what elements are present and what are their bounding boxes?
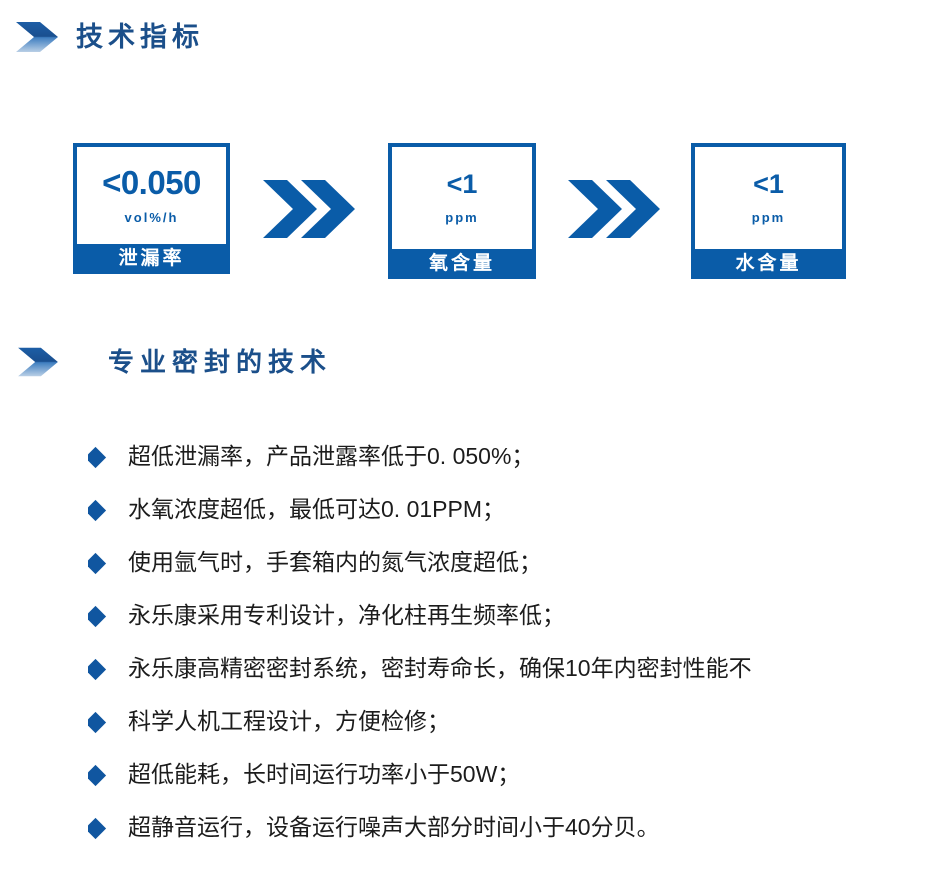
list-item: 科学人机工程设计，方便检修； (88, 703, 950, 756)
section-header-tech-specs: 技术指标 (14, 18, 204, 56)
list-item-label: 科学人机工程设计，方便检修； (128, 703, 450, 739)
separator-1 (230, 143, 388, 274)
list-item: 永乐康高精密密封系统，密封寿命长，确保10年内密封性能不 (88, 650, 950, 703)
metric-card-body: <0.050 vol%/h (77, 147, 226, 244)
page-root: 技术指标 <0.050 vol%/h 泄漏率 <1 ppm 氧含量 (0, 0, 950, 896)
list-item-label: 超低能耗，长时间运行功率小于50W； (128, 756, 520, 792)
diamond-bullet-icon (88, 765, 106, 786)
diamond-bullet-icon (88, 553, 106, 574)
feature-list: 超低泄漏率，产品泄露率低于0. 050%； 水氧浓度超低，最低可达0. 01PP… (88, 438, 950, 862)
metric-unit: ppm (752, 211, 785, 224)
diamond-bullet-icon (88, 500, 106, 521)
list-item: 永乐康采用专利设计，净化柱再生频率低； (88, 597, 950, 650)
list-item: 超静音运行，设备运行噪声大部分时间小于40分贝。 (88, 809, 950, 862)
metric-card-water: <1 ppm 水含量 (691, 143, 846, 279)
metric-label: 水含量 (691, 249, 846, 279)
list-item-label: 超静音运行，设备运行噪声大部分时间小于40分贝。 (128, 809, 660, 845)
metric-value: <1 (447, 171, 478, 198)
list-item-label: 使用氩气时，手套箱内的氮气浓度超低； (128, 544, 542, 580)
metric-card-body: <1 ppm (392, 147, 532, 249)
chevron-arrow-icon (16, 344, 60, 380)
metric-card-oxygen: <1 ppm 氧含量 (388, 143, 536, 279)
double-chevron-right-icon (261, 178, 357, 240)
metric-unit: ppm (445, 211, 478, 224)
section-title: 专业密封的技术 (108, 349, 332, 375)
chevron-arrow-icon (14, 18, 60, 56)
list-item: 使用氩气时，手套箱内的氮气浓度超低； (88, 544, 950, 597)
list-item: 水氧浓度超低，最低可达0. 01PPM； (88, 491, 950, 544)
metric-unit: vol%/h (125, 211, 179, 224)
metric-card-body: <1 ppm (695, 147, 842, 249)
double-chevron-right-icon (566, 178, 662, 240)
metric-label: 氧含量 (388, 249, 536, 279)
list-item-label: 永乐康采用专利设计，净化柱再生频率低； (128, 597, 565, 633)
section-title: 技术指标 (76, 24, 204, 51)
list-item: 超低能耗，长时间运行功率小于50W； (88, 756, 950, 809)
metric-card-leak-rate: <0.050 vol%/h 泄漏率 (73, 143, 230, 274)
metric-value: <1 (753, 171, 784, 198)
diamond-bullet-icon (88, 659, 106, 680)
diamond-bullet-icon (88, 712, 106, 733)
metrics-row: <0.050 vol%/h 泄漏率 <1 ppm 氧含量 (73, 143, 893, 283)
list-item: 超低泄漏率，产品泄露率低于0. 050%； (88, 438, 950, 491)
section-header-sealing-tech: 专业密封的技术 (16, 344, 332, 380)
diamond-bullet-icon (88, 818, 106, 839)
metric-value: <0.050 (102, 166, 201, 199)
metric-label: 泄漏率 (73, 244, 230, 274)
list-item-label: 水氧浓度超低，最低可达0. 01PPM； (128, 491, 505, 527)
separator-2 (536, 143, 691, 274)
list-item-label: 超低泄漏率，产品泄露率低于0. 050%； (128, 438, 534, 474)
list-item-label: 永乐康高精密密封系统，密封寿命长，确保10年内密封性能不 (128, 650, 752, 686)
diamond-bullet-icon (88, 447, 106, 468)
diamond-bullet-icon (88, 606, 106, 627)
